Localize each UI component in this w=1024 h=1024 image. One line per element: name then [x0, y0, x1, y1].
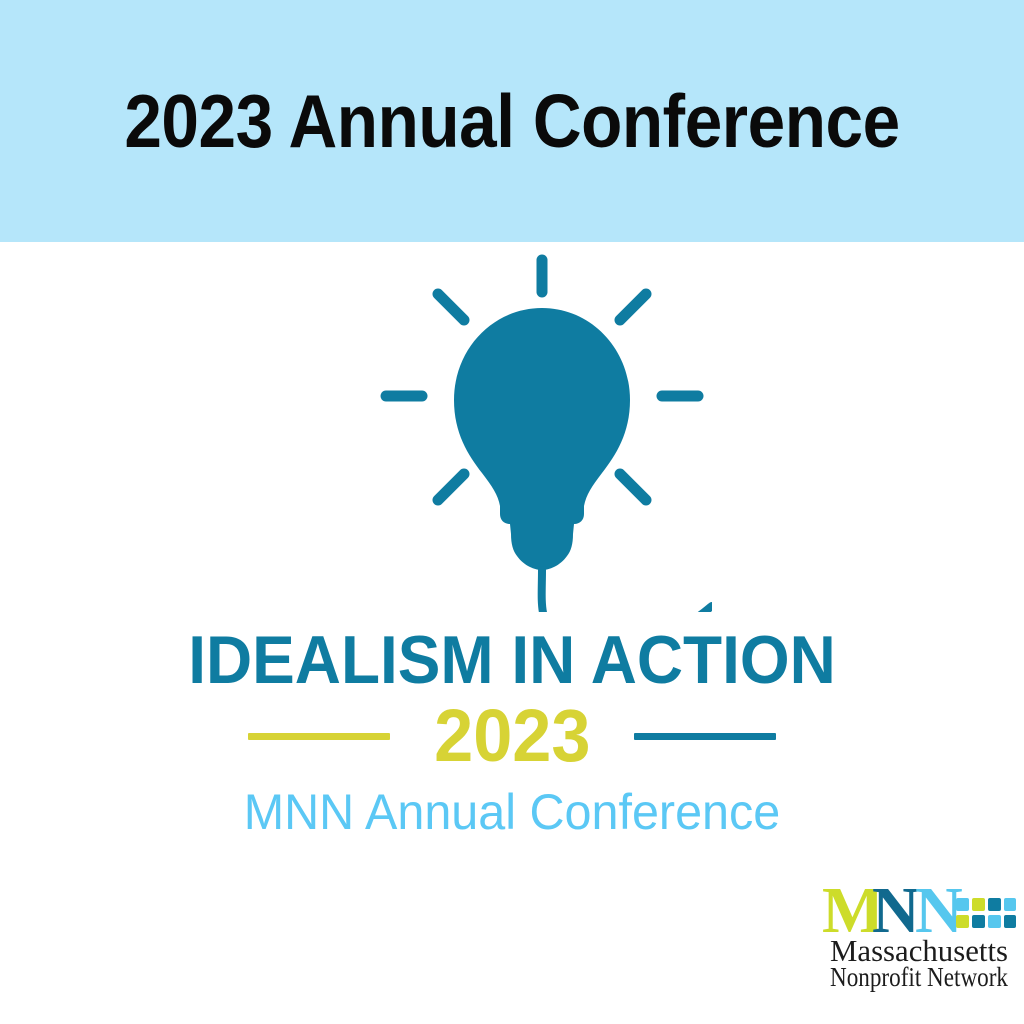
- event-year-row: 2023: [0, 700, 1024, 772]
- event-lockup: IDEALISM IN ACTION 2023 MNN Annual Confe…: [0, 626, 1024, 839]
- conference-poster: 2023 Annual Conference IDEALISM IN AC: [0, 0, 1024, 1024]
- logo-name-line2: Nonprofit Network: [830, 962, 1008, 992]
- event-subtitle: MNN Annual Conference: [15, 786, 1008, 839]
- logo-square-grid: [956, 898, 1016, 928]
- rule-right: [634, 733, 776, 740]
- event-headline: IDEALISM IN ACTION: [31, 626, 994, 694]
- lightbulb-with-cord-icon: [372, 252, 712, 612]
- event-year: 2023: [434, 699, 590, 773]
- page-title: 2023 Annual Conference: [51, 0, 973, 242]
- mnn-logo: M N N Massachusetts Nonprofit Network: [820, 876, 1016, 992]
- rule-left: [248, 733, 390, 740]
